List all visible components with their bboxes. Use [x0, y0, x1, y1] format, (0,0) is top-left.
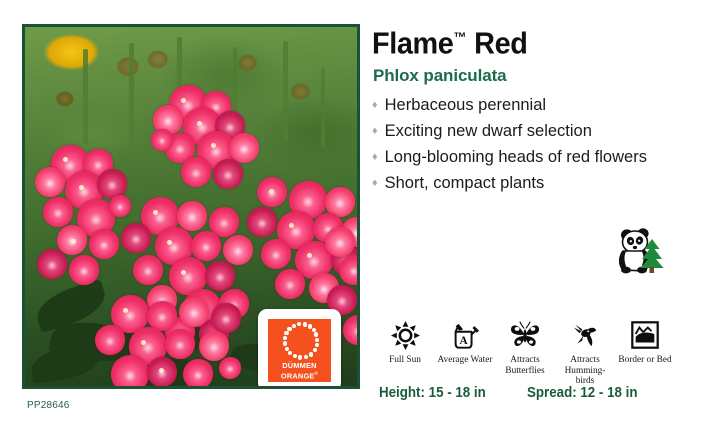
- culture-icon-hummingbirds: Attracts Humming-birds: [555, 318, 615, 387]
- culture-icon-butterflies: Attracts Butterflies: [495, 318, 555, 376]
- registered-mark: ®: [315, 371, 319, 376]
- plant-tag: DÜMMEN ORANGE® PP28646 Flame™ Red Phlox …: [0, 0, 720, 445]
- feature-text: Short, compact plants: [385, 171, 702, 196]
- culture-icon-full-sun: Full Sun: [375, 318, 435, 366]
- culture-icon-border-or-bed: Border or Bed: [615, 318, 675, 366]
- feature-text: Exciting new dwarf selection: [385, 119, 702, 144]
- trademark-symbol: ™: [453, 29, 466, 45]
- watering-can-icon: A: [450, 318, 480, 352]
- patent-number: PP28646: [27, 400, 70, 411]
- logo-wordmark: DÜMMEN ORANGE®: [281, 362, 318, 381]
- dummen-orange-logo: DÜMMEN ORANGE®: [258, 309, 341, 386]
- diamond-bullet-icon: ♦: [372, 171, 378, 196]
- height-text: Height: 15 - 18 in: [379, 385, 486, 401]
- logo-line-1: DÜMMEN: [282, 361, 316, 370]
- logo-square: DÜMMEN ORANGE®: [268, 319, 331, 382]
- feature-list: ♦ Herbaceous perennial ♦ Exciting new dw…: [372, 93, 702, 208]
- hummingbird-icon: [571, 318, 599, 352]
- page-title: Flame™ Red: [372, 20, 679, 60]
- panda-tree-icon: [612, 225, 670, 277]
- feature-text: Herbaceous perennial: [385, 93, 702, 118]
- plant-name: Flame: [372, 25, 453, 60]
- butterfly-icon: [509, 318, 541, 352]
- diamond-bullet-icon: ♦: [372, 93, 378, 118]
- list-item: ♦ Herbaceous perennial: [372, 93, 702, 118]
- list-item: ♦ Long-blooming heads of red flowers: [372, 145, 702, 170]
- feature-text: Long-blooming heads of red flowers: [385, 145, 702, 170]
- svg-text:A: A: [460, 334, 469, 346]
- plant-color-name: Red: [474, 25, 527, 60]
- culture-icon-label: Average Water: [436, 355, 494, 366]
- culture-icon-label: Attracts Humming-birds: [556, 355, 614, 387]
- logo-line-2: ORANGE: [281, 371, 315, 380]
- culture-icon-label: Full Sun: [376, 355, 434, 366]
- culture-icon-label: Attracts Butterflies: [496, 355, 554, 376]
- diamond-bullet-icon: ♦: [372, 145, 378, 170]
- culture-icon-label: Border or Bed: [616, 355, 674, 366]
- botanical-name: Phlox paniculata: [373, 66, 702, 86]
- list-item: ♦ Short, compact plants: [372, 171, 702, 196]
- diamond-bullet-icon: ♦: [372, 119, 378, 144]
- plant-photo: DÜMMEN ORANGE®: [25, 27, 357, 386]
- dimensions-row: Height: 15 - 18 in Spread: 12 - 18 in: [375, 385, 675, 405]
- border-bed-icon: [631, 318, 659, 352]
- list-item: ♦ Exciting new dwarf selection: [372, 119, 702, 144]
- plant-photo-frame: DÜMMEN ORANGE®: [22, 24, 360, 389]
- info-panel: Flame™ Red Phlox paniculata ♦ Herbaceous…: [372, 20, 702, 430]
- spread-text: Spread: 12 - 18 in: [527, 385, 637, 401]
- logo-ring-icon: [283, 322, 317, 360]
- sun-icon: [391, 318, 420, 352]
- culture-icon-average-water: A Average Water: [435, 318, 495, 366]
- culture-icon-row: Full Sun A Average Water: [375, 318, 675, 387]
